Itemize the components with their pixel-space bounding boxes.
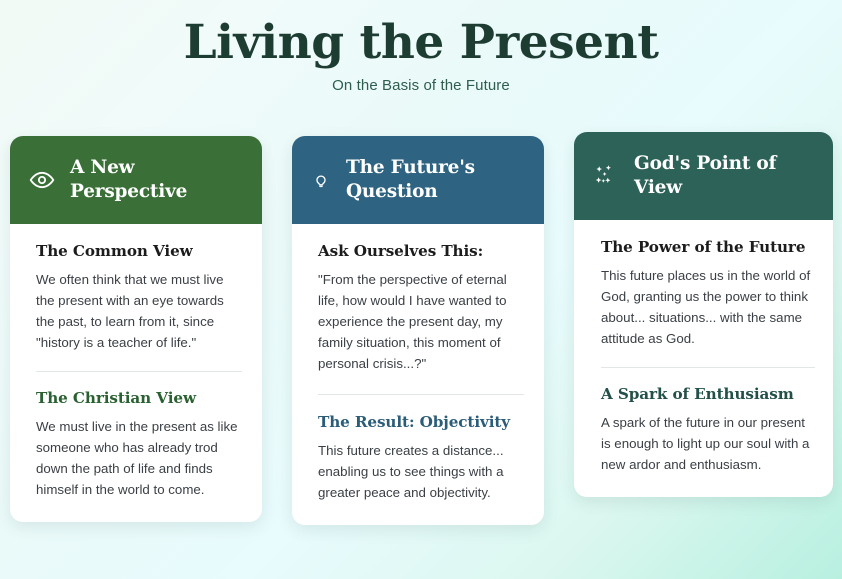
section-divider	[36, 371, 242, 372]
cards-row: A New Perspective The Common View We oft…	[10, 130, 842, 525]
section-title: The Result: Objectivity	[318, 413, 524, 432]
section-title: The Common View	[36, 242, 242, 261]
card-header: The Future's Question	[292, 136, 544, 224]
card-header: A New Perspective	[10, 136, 262, 224]
section: Ask Ourselves This: "From the perspectiv…	[318, 242, 524, 374]
card-body: Ask Ourselves This: "From the perspectiv…	[292, 224, 544, 525]
section-text: This future creates a distance... enabli…	[318, 440, 524, 503]
sparkles-icon	[592, 163, 620, 189]
section-text: We must live in the present as like some…	[36, 416, 242, 500]
section: The Power of the Future This future plac…	[601, 238, 815, 349]
section: The Christian View We must live in the p…	[36, 389, 242, 500]
section: The Result: Objectivity This future crea…	[318, 413, 524, 503]
section-text: A spark of the future in our present is …	[601, 412, 815, 475]
page-subtitle: On the Basis of the Future	[0, 77, 842, 94]
section-divider	[318, 394, 524, 395]
card-new-perspective[interactable]: A New Perspective The Common View We oft…	[10, 136, 262, 522]
card-header-title: God's Point of View	[634, 152, 817, 201]
section-text: "From the perspective of eternal life, h…	[318, 269, 524, 374]
section: A Spark of Enthusiasm A spark of the fut…	[601, 385, 815, 475]
section-text: We often think that we must live the pre…	[36, 269, 242, 353]
section-title: Ask Ourselves This:	[318, 242, 524, 261]
section-title: A Spark of Enthusiasm	[601, 385, 815, 404]
section: The Common View We often think that we m…	[36, 242, 242, 353]
card-header-title: A New Perspective	[70, 156, 246, 205]
section-title: The Power of the Future	[601, 238, 815, 257]
card-header: God's Point of View	[574, 132, 833, 220]
page-header: Living the Present On the Basis of the F…	[0, 0, 842, 94]
eye-icon	[28, 167, 56, 193]
section-text: This future places us in the world of Go…	[601, 265, 815, 349]
lightbulb-icon	[310, 170, 332, 190]
card-header-title: The Future's Question	[346, 156, 528, 205]
card-gods-point-of-view[interactable]: God's Point of View The Power of the Fut…	[574, 132, 833, 497]
page-title: Living the Present	[0, 14, 842, 71]
card-futures-question[interactable]: The Future's Question Ask Ourselves This…	[292, 136, 544, 525]
section-title: The Christian View	[36, 389, 242, 408]
section-divider	[601, 367, 815, 368]
card-body: The Common View We often think that we m…	[10, 224, 262, 522]
card-body: The Power of the Future This future plac…	[574, 220, 833, 497]
